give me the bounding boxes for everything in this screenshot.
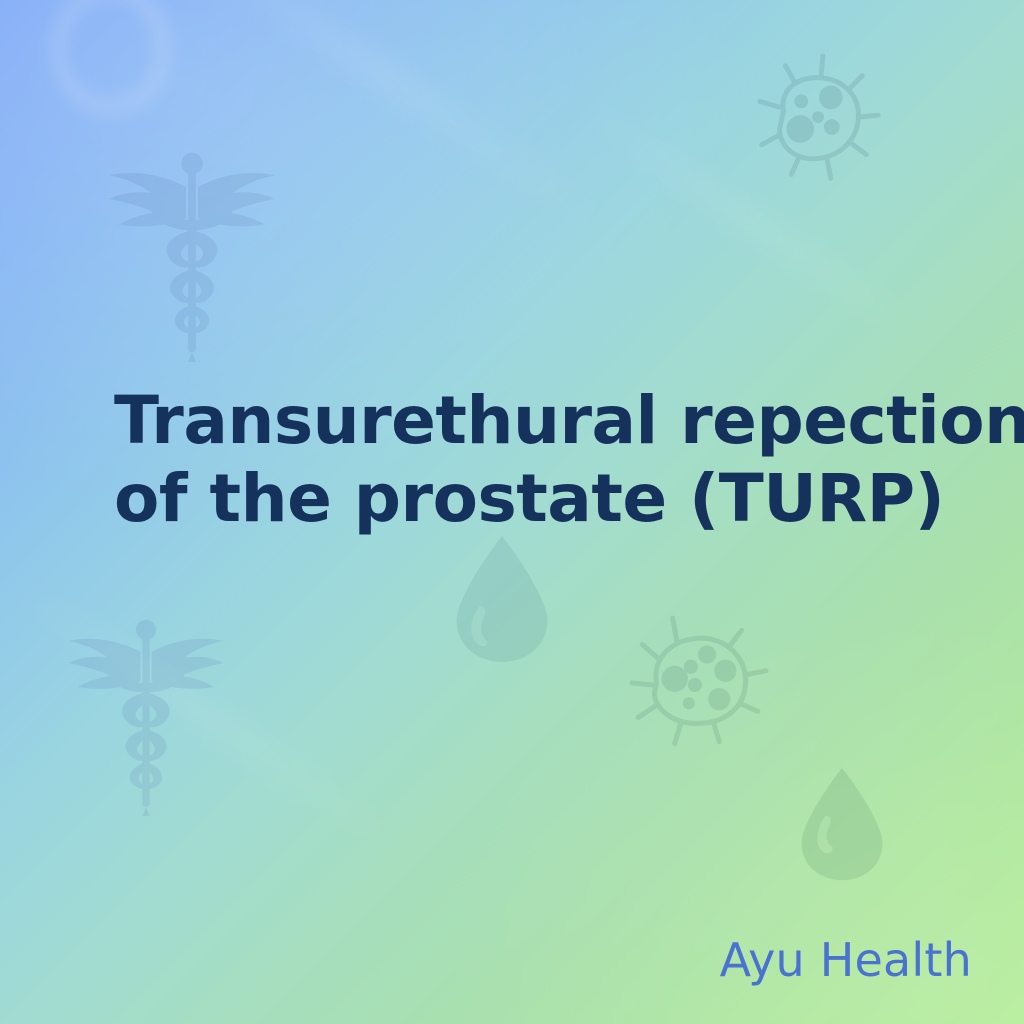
poster-canvas: Transurethural repection of the prostate… (0, 0, 1024, 1024)
ring-glow-icon (52, 0, 170, 114)
title-line-2: of the prostate (TURP) (114, 460, 934, 538)
caduceus-icon (88, 136, 296, 362)
water-drop-icon (450, 534, 554, 664)
background-streak-icon (157, 0, 603, 229)
brand-name: Ayu Health (720, 932, 972, 988)
germ-icon (744, 52, 892, 200)
germ-icon (624, 612, 776, 764)
water-drop-icon (796, 766, 888, 882)
background-streak-icon (570, 94, 929, 345)
background-streak-icon (0, 568, 405, 855)
title-line-1: Transurethural repection (114, 382, 934, 460)
poster-title: Transurethural repection of the prostate… (114, 382, 934, 538)
caduceus-icon (48, 604, 244, 816)
